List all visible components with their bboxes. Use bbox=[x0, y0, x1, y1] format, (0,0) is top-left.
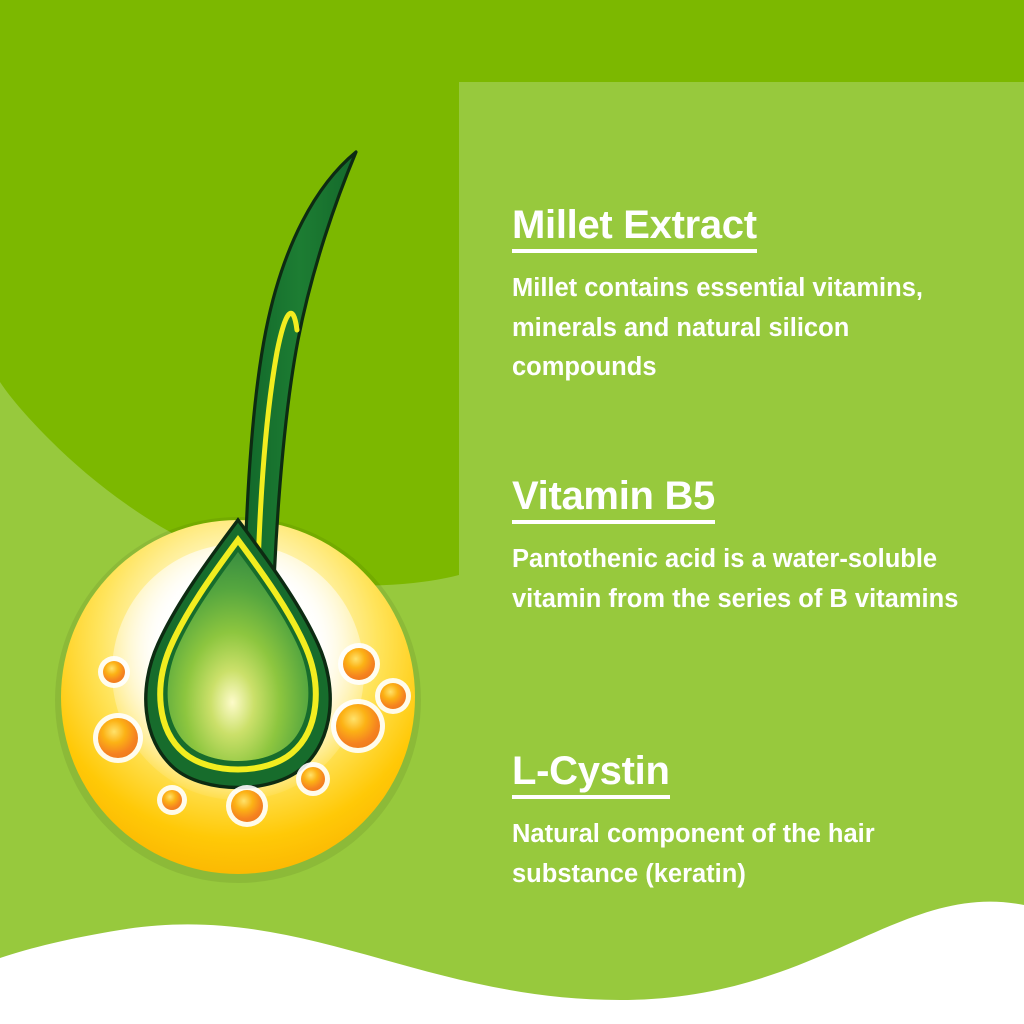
nutrient-dot bbox=[103, 661, 125, 683]
ingredient-item-millet-extract: Millet Extract Millet contains essential… bbox=[512, 204, 982, 388]
nutrient-dot bbox=[343, 648, 375, 680]
nutrient-dot bbox=[98, 718, 138, 758]
ingredient-item-l-cystin: L-Cystin Natural component of the hair s… bbox=[512, 750, 982, 894]
nutrient-dot bbox=[231, 790, 263, 822]
nutrient-dot bbox=[380, 683, 406, 709]
ingredient-description: Millet contains essential vitamins, mine… bbox=[512, 269, 977, 388]
infographic-canvas: Millet Extract Millet contains essential… bbox=[0, 0, 1024, 1024]
ingredient-description: Pantothenic acid is a water-soluble vita… bbox=[512, 540, 977, 619]
ingredient-title: L-Cystin bbox=[512, 750, 670, 799]
ingredient-description: Natural component of the hair substance … bbox=[512, 815, 977, 894]
nutrient-dot bbox=[301, 767, 325, 791]
ingredient-item-vitamin-b5: Vitamin B5 Pantothenic acid is a water-s… bbox=[512, 475, 982, 619]
ingredient-title: Vitamin B5 bbox=[512, 475, 715, 524]
ingredient-title: Millet Extract bbox=[512, 204, 757, 253]
nutrient-dot bbox=[336, 704, 380, 748]
nutrient-dot bbox=[162, 790, 182, 810]
